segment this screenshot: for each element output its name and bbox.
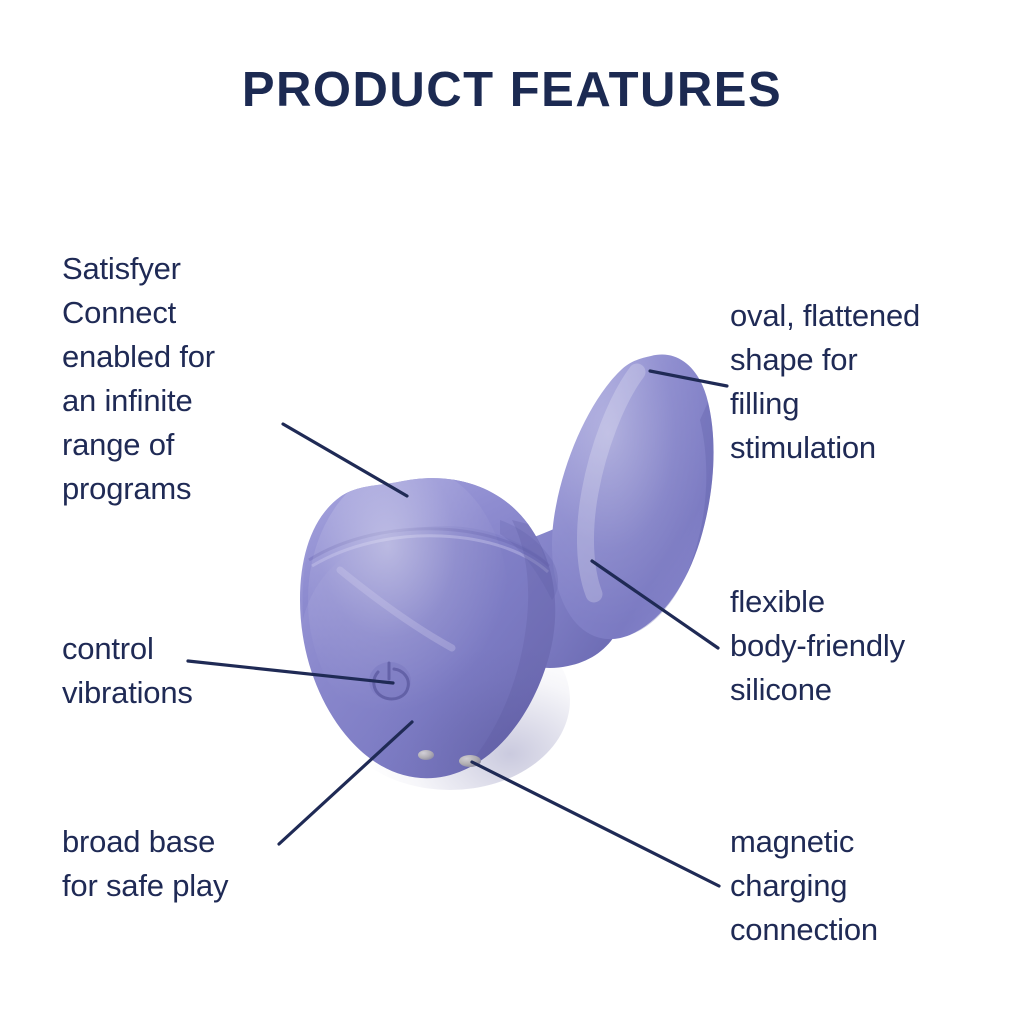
product-body (300, 355, 714, 790)
product-features-diagram: PRODUCT FEATURES (0, 0, 1024, 1024)
callout-flexible-silicone: flexible body-friendly silicone (730, 580, 1010, 712)
callout-satisfyer-connect: Satisfyer Connect enabled for an infinit… (62, 247, 332, 511)
product-bulb-highlight (552, 355, 714, 640)
callout-oval-shape: oval, flattened shape for filling stimul… (730, 294, 1010, 470)
callout-broad-base: broad base for safe play (62, 820, 352, 908)
callout-magnetic-charging: magnetic charging connection (730, 820, 1010, 952)
callout-control-vibrations: control vibrations (62, 627, 322, 715)
leader-line-magnetic-charging (472, 762, 719, 886)
